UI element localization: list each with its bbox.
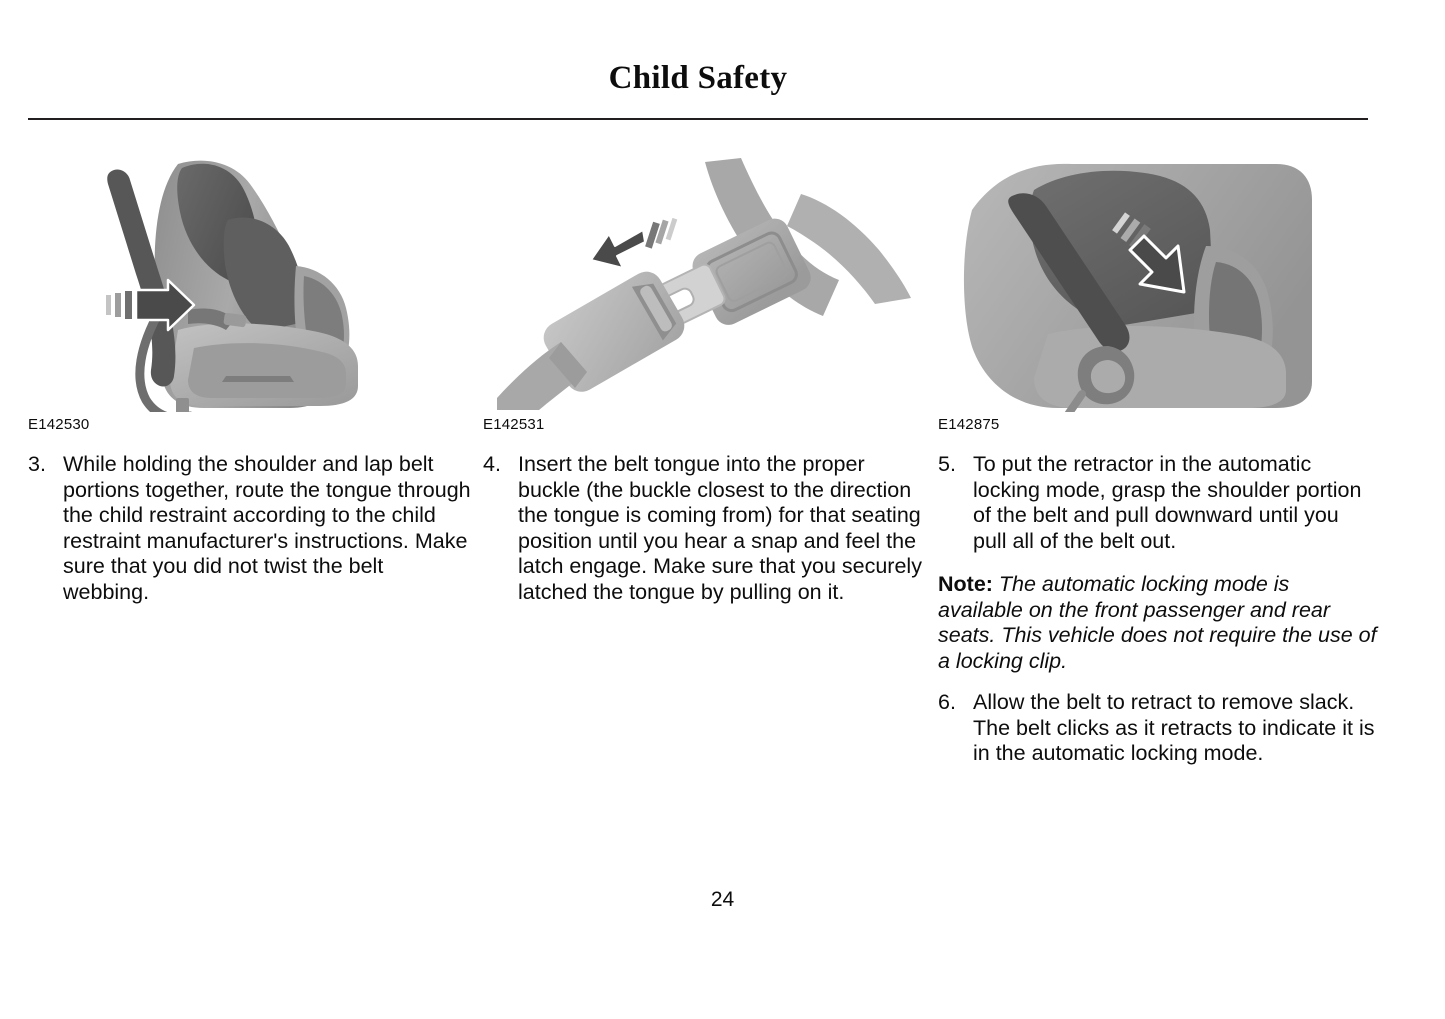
- document-page: Child Safety: [0, 0, 1445, 1019]
- buckle-illustration: [483, 150, 923, 412]
- list-item: 6. Allow the belt to retract to remove s…: [938, 690, 1378, 767]
- figure-retractor-pull-down: [938, 150, 1378, 412]
- step-text: Allow the belt to retract to remove slac…: [973, 690, 1378, 767]
- list-item: 5. To put the retractor in the automatic…: [938, 452, 1378, 554]
- content-columns: E142530 3. While holding the shoulder an…: [28, 150, 1388, 767]
- step-number: 4.: [483, 452, 518, 605]
- page-title: Child Safety: [28, 60, 1368, 96]
- figure-belt-tongue-buckle: [483, 150, 928, 412]
- step-number: 6.: [938, 690, 973, 767]
- step-number: 3.: [28, 452, 63, 605]
- insertion-arrow-icon: [591, 218, 677, 268]
- figure-caption: E142875: [938, 414, 1378, 436]
- step-number: 5.: [938, 452, 973, 554]
- step-text: While holding the shoulder and lap belt …: [63, 452, 473, 605]
- list-item: 3. While holding the shoulder and lap be…: [28, 452, 473, 605]
- retractor-illustration: [938, 150, 1368, 412]
- seat-base-seam: [222, 376, 294, 382]
- figure-child-seat-belt-routing: [28, 150, 473, 412]
- list-item: 4. Insert the belt tongue into the prope…: [483, 452, 928, 605]
- belt-clip: [176, 398, 189, 412]
- figure-caption: E142531: [483, 414, 928, 436]
- child-seat-illustration: [28, 150, 468, 412]
- column-3: E142875 5. To put the retractor in the a…: [938, 150, 1388, 767]
- seat-lower-cushion: [1034, 326, 1286, 408]
- figure-caption: E142530: [28, 414, 473, 436]
- note-block: Note: The automatic locking mode is avai…: [938, 572, 1378, 674]
- header-divider: [28, 118, 1368, 120]
- page-header: Child Safety: [28, 60, 1368, 96]
- page-number: 24: [0, 888, 1445, 912]
- note-label: Note:: [938, 572, 993, 596]
- step-text: To put the retractor in the automatic lo…: [973, 452, 1378, 554]
- column-2: E142531 4. Insert the belt tongue into t…: [483, 150, 938, 767]
- column-1: E142530 3. While holding the shoulder an…: [28, 150, 483, 767]
- note-text: The automatic locking mode is available …: [938, 572, 1377, 673]
- step-text: Insert the belt tongue into the proper b…: [518, 452, 928, 605]
